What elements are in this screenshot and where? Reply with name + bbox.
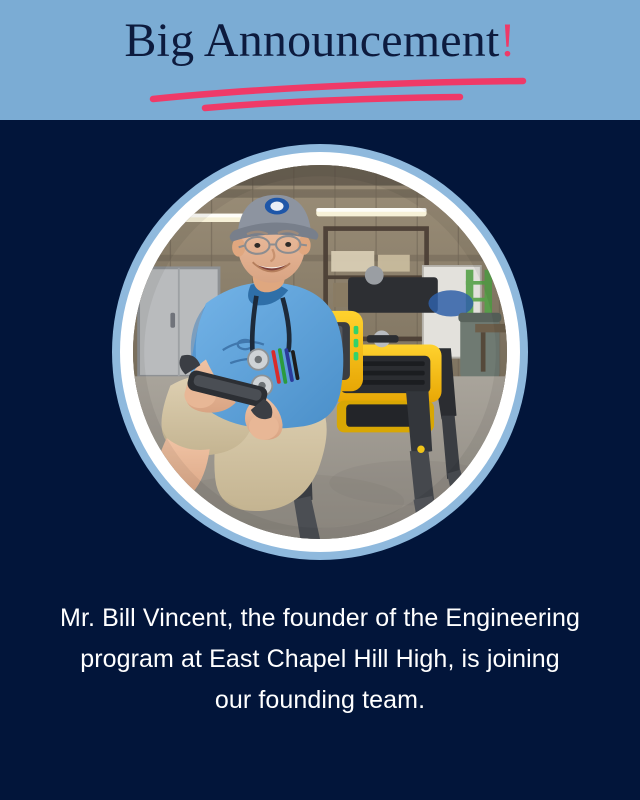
announcement-poster: Big Announcement! [0,0,640,800]
page-title-exclamation: ! [499,14,515,67]
header-band: Big Announcement! [0,0,640,120]
workshop-scene-illustration [133,165,507,539]
double-swoosh-underline-icon [0,72,640,112]
photo-outer-ring [112,144,528,560]
page-title-text: Big Announcement [124,14,499,67]
page-title: Big Announcement! [0,14,640,68]
announcement-caption: Mr. Bill Vincent, the founder of the Eng… [60,598,580,721]
profile-photo [133,165,507,539]
photo-white-ring [120,152,520,552]
